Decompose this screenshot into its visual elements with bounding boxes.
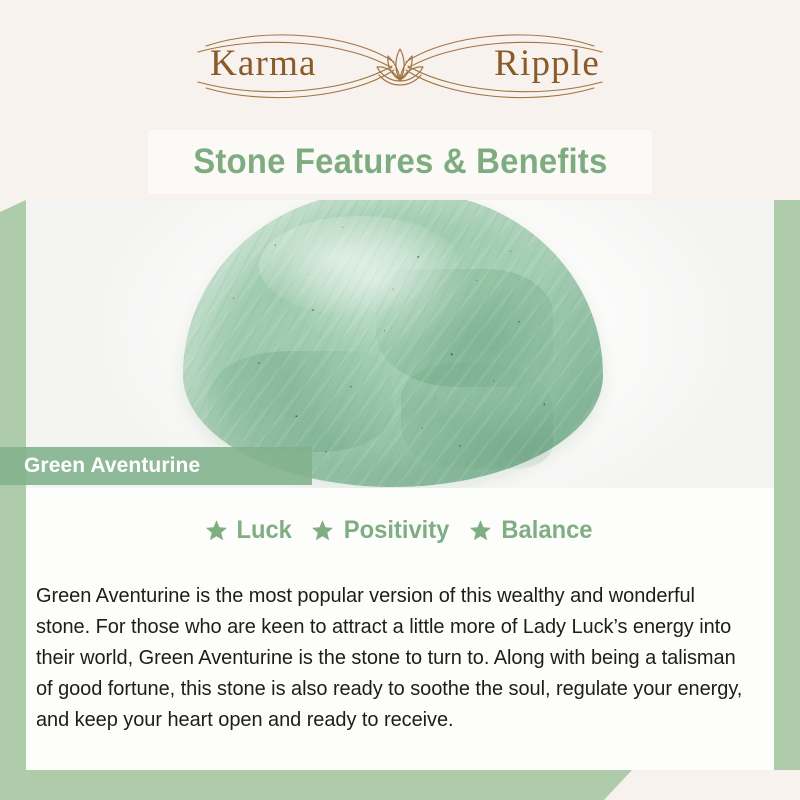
lotus-icon [371,44,429,88]
star-icon [311,519,334,542]
keyword-item-balance: Balance [469,516,595,545]
page-title: Stone Features & Benefits [193,142,607,182]
brand-logo: Karma Ripple [170,28,630,106]
green-aventurine-stone-image [183,198,603,487]
keyword-label: Balance [501,516,592,545]
stone-photo-panel [26,198,774,488]
keyword-label: Luck [237,516,292,545]
description-card: Luck Positivity Balance Green Aventurine… [26,488,774,770]
stone-description-text: Green Aventurine is the most popular ver… [36,581,753,736]
keyword-list: Luck Positivity Balance [26,516,774,545]
frame-edge-left [0,200,26,800]
brand-name-last: Ripple [494,39,600,89]
infographic-page: Karma Ripple Stone Features & Benefits [0,0,800,800]
title-band: Stone Features & Benefits [0,124,800,200]
keyword-label: Positivity [343,516,449,545]
keyword-item-positivity: Positivity [311,516,452,545]
brand-header: Karma Ripple [0,0,800,124]
stone-name-band: Green Aventurine [0,447,312,485]
stone-speckles [183,198,603,487]
star-icon [205,519,228,542]
star-icon [469,519,492,542]
frame-edge-bottom [0,770,632,800]
title-plate: Stone Features & Benefits [148,130,652,194]
keyword-item-luck: Luck [205,516,293,545]
stone-name-label: Green Aventurine [24,454,200,478]
brand-name-first: Karma [210,39,317,89]
